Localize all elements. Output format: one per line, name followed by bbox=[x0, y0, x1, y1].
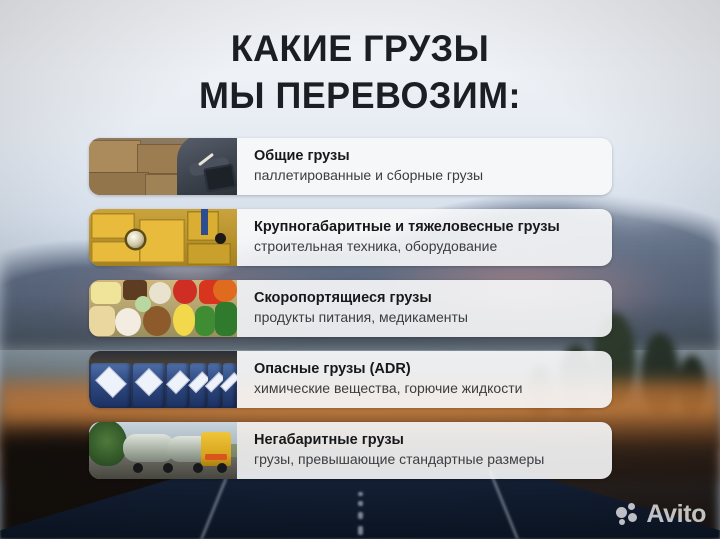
page-title-line-2: МЫ ПЕРЕВОЗИМ: bbox=[11, 73, 709, 120]
cargo-text: Негабаритные грузы грузы, превышающие ст… bbox=[237, 432, 612, 469]
cargo-text: Крупногабаритные и тяжеловесные грузы ст… bbox=[237, 219, 612, 256]
blue-adr-chemical-barrels-icon bbox=[89, 351, 237, 408]
cargo-title: Негабаритные грузы bbox=[254, 432, 600, 450]
list-item[interactable]: Крупногабаритные и тяжеловесные грузы ст… bbox=[89, 209, 612, 266]
list-item[interactable]: Опасные грузы (ADR) химические вещества,… bbox=[89, 351, 612, 408]
cargo-subtitle: строительная техника, оборудование bbox=[254, 238, 600, 256]
cargo-subtitle: грузы, превышающие стандартные размеры bbox=[254, 451, 600, 469]
page-title-line-1: КАКИЕ ГРУЗЫ bbox=[11, 26, 709, 73]
poster-canvas: КАКИЕ ГРУЗЫ МЫ ПЕРЕВОЗИМ: Общие грузы па… bbox=[0, 0, 720, 539]
cargo-thumbnail bbox=[89, 138, 237, 195]
list-item[interactable]: Общие грузы паллетированные и сборные гр… bbox=[89, 138, 612, 195]
cargo-thumbnail bbox=[89, 422, 237, 479]
yellow-heavy-machinery-icon bbox=[89, 209, 237, 266]
cargo-title: Опасные грузы (ADR) bbox=[254, 361, 600, 379]
list-item[interactable]: Негабаритные грузы грузы, превышающие ст… bbox=[89, 422, 612, 479]
cargo-title: Общие грузы bbox=[254, 148, 600, 166]
list-item[interactable]: Скоропортящиеся грузы продукты питания, … bbox=[89, 280, 612, 337]
cargo-thumbnail bbox=[89, 280, 237, 337]
avito-watermark: Avito bbox=[616, 502, 706, 527]
avito-wordmark: Avito bbox=[646, 502, 706, 527]
cargo-text: Скоропортящиеся грузы продукты питания, … bbox=[237, 290, 612, 327]
cargo-type-list: Общие грузы паллетированные и сборные гр… bbox=[89, 138, 612, 479]
avito-dots-logo-icon bbox=[616, 503, 639, 526]
cargo-thumbnail bbox=[89, 351, 237, 408]
cargo-subtitle: химические вещества, горючие жидкости bbox=[254, 380, 600, 398]
cardboard-boxes-worker-icon bbox=[89, 138, 237, 195]
cargo-text: Опасные грузы (ADR) химические вещества,… bbox=[237, 361, 612, 398]
cargo-thumbnail bbox=[89, 209, 237, 266]
cargo-subtitle: паллетированные и сборные грузы bbox=[254, 167, 600, 185]
cargo-subtitle: продукты питания, медикаменты bbox=[254, 309, 600, 327]
oversize-tanker-convoy-icon bbox=[89, 422, 237, 479]
page-title: КАКИЕ ГРУЗЫ МЫ ПЕРЕВОЗИМ: bbox=[11, 26, 709, 119]
cargo-title: Крупногабаритные и тяжеловесные грузы bbox=[254, 219, 600, 237]
cargo-text: Общие грузы паллетированные и сборные гр… bbox=[237, 148, 612, 185]
fresh-food-produce-icon bbox=[89, 280, 237, 337]
cargo-title: Скоропортящиеся грузы bbox=[254, 290, 600, 308]
